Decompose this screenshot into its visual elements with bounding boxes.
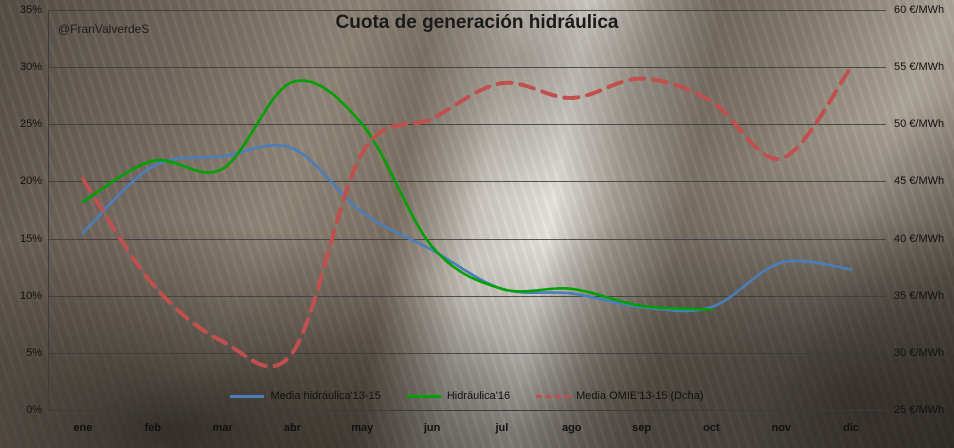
y-axis-left-tick-label: 15% bbox=[0, 233, 42, 245]
y-axis-right-tick-label: 45 €/MWh bbox=[894, 175, 954, 187]
y-axis-left-tick-label: 20% bbox=[0, 175, 42, 187]
x-axis-tick-label: ene bbox=[73, 422, 92, 434]
y-axis-left-tick-label: 30% bbox=[0, 61, 42, 73]
chart-container: Cuota de generación hidráulica @FranValv… bbox=[0, 0, 954, 448]
legend-item[interactable]: Hidráulica'16 bbox=[407, 390, 510, 402]
legend-item[interactable]: Media OMIE'13-15 (Dcha) bbox=[536, 390, 703, 402]
y-axis-left-tick-label: 0% bbox=[0, 404, 42, 416]
legend-item[interactable]: Media hidráulica'13-15 bbox=[230, 390, 380, 402]
legend-swatch-line-icon bbox=[536, 395, 570, 398]
y-axis-right-tick-label: 35 €/MWh bbox=[894, 290, 954, 302]
legend-swatch-line-icon bbox=[407, 395, 441, 398]
y-axis-right-tick-label: 25 €/MWh bbox=[894, 404, 954, 416]
x-axis-tick-label: may bbox=[351, 422, 373, 434]
x-axis-tick-label: mar bbox=[212, 422, 232, 434]
x-axis-tick-label: ago bbox=[562, 422, 582, 434]
y-axis-right-tick-label: 60 €/MWh bbox=[894, 4, 954, 16]
legend-swatch-line-icon bbox=[230, 395, 264, 398]
plot-area bbox=[48, 10, 886, 410]
y-axis-left-tick-label: 10% bbox=[0, 290, 42, 302]
legend-label: Hidráulica'16 bbox=[447, 390, 510, 402]
series-line-2 bbox=[83, 81, 712, 310]
x-axis-line bbox=[48, 410, 886, 411]
y-axis-left-tick-label: 35% bbox=[0, 4, 42, 16]
y-axis-right-tick-label: 40 €/MWh bbox=[894, 233, 954, 245]
legend-label: Media OMIE'13-15 (Dcha) bbox=[576, 390, 703, 402]
y-axis-left-tick-label: 5% bbox=[0, 347, 42, 359]
x-axis-tick-label: sep bbox=[632, 422, 651, 434]
y-axis-left-tick-label: 25% bbox=[0, 118, 42, 130]
x-axis-tick-label: dic bbox=[843, 422, 859, 434]
y-axis-right-tick-label: 55 €/MWh bbox=[894, 61, 954, 73]
legend: Media hidráulica'13-15Hidráulica'16Media… bbox=[48, 390, 886, 402]
x-axis-tick-label: jun bbox=[424, 422, 441, 434]
series-line-3 bbox=[83, 67, 851, 366]
x-axis-tick-label: feb bbox=[145, 422, 162, 434]
x-axis-tick-label: jul bbox=[495, 422, 508, 434]
y-axis-right-tick-label: 30 €/MWh bbox=[894, 347, 954, 359]
x-axis-tick-label: oct bbox=[703, 422, 720, 434]
x-axis-tick-label: abr bbox=[284, 422, 301, 434]
legend-label: Media hidráulica'13-15 bbox=[270, 390, 380, 402]
series-lines bbox=[48, 10, 886, 410]
y-axis-right-tick-label: 50 €/MWh bbox=[894, 118, 954, 130]
x-axis-tick-label: nov bbox=[771, 422, 791, 434]
